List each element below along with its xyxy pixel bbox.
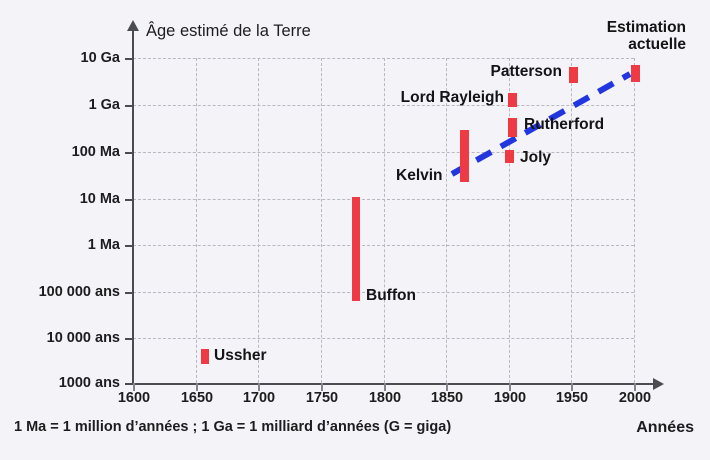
data-mark-patterson[interactable] bbox=[569, 67, 578, 83]
data-mark-joly[interactable] bbox=[505, 150, 514, 163]
x-tick-label-1900: 1900 bbox=[480, 390, 540, 406]
y-tick-label-1ga: 1 Ga bbox=[89, 98, 120, 113]
ytick-10000 bbox=[125, 338, 134, 340]
data-mark-ussher[interactable] bbox=[201, 349, 209, 364]
x-tick-label-1750: 1750 bbox=[292, 390, 352, 406]
x-tick-label-1700: 1700 bbox=[229, 390, 289, 406]
y-tick-label-100ma: 100 Ma bbox=[72, 145, 120, 160]
label-kelvin: Kelvin bbox=[396, 168, 443, 185]
label-buffon: Buffon bbox=[366, 288, 416, 305]
label-joly: Joly bbox=[520, 150, 551, 167]
gridline-1850 bbox=[446, 58, 447, 383]
ytick-1ga bbox=[125, 105, 134, 107]
x-tick-label-1800: 1800 bbox=[355, 390, 415, 406]
y-tick-label-1ma: 1 Ma bbox=[88, 238, 120, 253]
data-mark-estimation-actuelle[interactable] bbox=[631, 65, 640, 82]
y-tick-label-100000: 100 000 ans bbox=[39, 285, 120, 300]
x-tick-label-1950: 1950 bbox=[542, 390, 602, 406]
label-estimation-line2: actuelle bbox=[628, 36, 686, 53]
x-axis-arrow-icon bbox=[653, 378, 664, 390]
y-axis-arrow-icon bbox=[127, 20, 139, 31]
x-tick-label-1850: 1850 bbox=[417, 390, 477, 406]
x-tick-label-2000: 2000 bbox=[605, 390, 665, 406]
x-tick-label-1650: 1650 bbox=[167, 390, 227, 406]
y-tick-label-10ma: 10 Ma bbox=[80, 192, 120, 207]
gridline-1800 bbox=[384, 58, 385, 383]
ytick-1ma bbox=[125, 245, 134, 247]
y-tick-label-10000: 10 000 ans bbox=[47, 331, 120, 346]
y-axis-title: Âge estimé de la Terre bbox=[146, 22, 311, 41]
gridline-1700 bbox=[258, 58, 259, 383]
label-estimation-line1: Estimation bbox=[607, 19, 686, 36]
y-tick-label-1000: 1000 ans bbox=[59, 376, 120, 391]
label-patterson: Patterson bbox=[452, 64, 562, 81]
y-tick-label-10ga: 10 Ga bbox=[81, 51, 121, 66]
data-mark-kelvin[interactable] bbox=[460, 130, 469, 182]
ytick-100000 bbox=[125, 292, 134, 294]
gridline-1950 bbox=[571, 58, 572, 383]
label-lord-rayleigh: Lord Rayleigh bbox=[386, 90, 504, 107]
x-tick-label-1600: 1600 bbox=[104, 390, 164, 406]
gridline-1750 bbox=[321, 58, 322, 383]
y-axis-line bbox=[132, 30, 134, 385]
data-mark-rutherford[interactable] bbox=[508, 118, 517, 137]
label-ussher: Ussher bbox=[214, 348, 267, 365]
ytick-100ma bbox=[125, 152, 134, 154]
x-axis-title: Années bbox=[636, 419, 694, 437]
data-mark-lord-rayleigh[interactable] bbox=[508, 93, 517, 107]
gridline-1650 bbox=[196, 58, 197, 383]
gridline-2000 bbox=[634, 58, 635, 383]
chart-figure: 10 Ga 1 Ga 100 Ma 10 Ma 1 Ma 100 000 ans… bbox=[0, 0, 710, 460]
ytick-10ma bbox=[125, 199, 134, 201]
label-rutherford: Rutherford bbox=[524, 117, 604, 134]
label-estimation-actuelle: Estimation actuelle bbox=[560, 20, 686, 53]
ytick-10ga bbox=[125, 58, 134, 60]
footnote-text: 1 Ma = 1 million d’années ; 1 Ga = 1 mil… bbox=[14, 419, 451, 435]
x-axis-line bbox=[132, 383, 660, 385]
data-mark-buffon[interactable] bbox=[352, 197, 360, 301]
